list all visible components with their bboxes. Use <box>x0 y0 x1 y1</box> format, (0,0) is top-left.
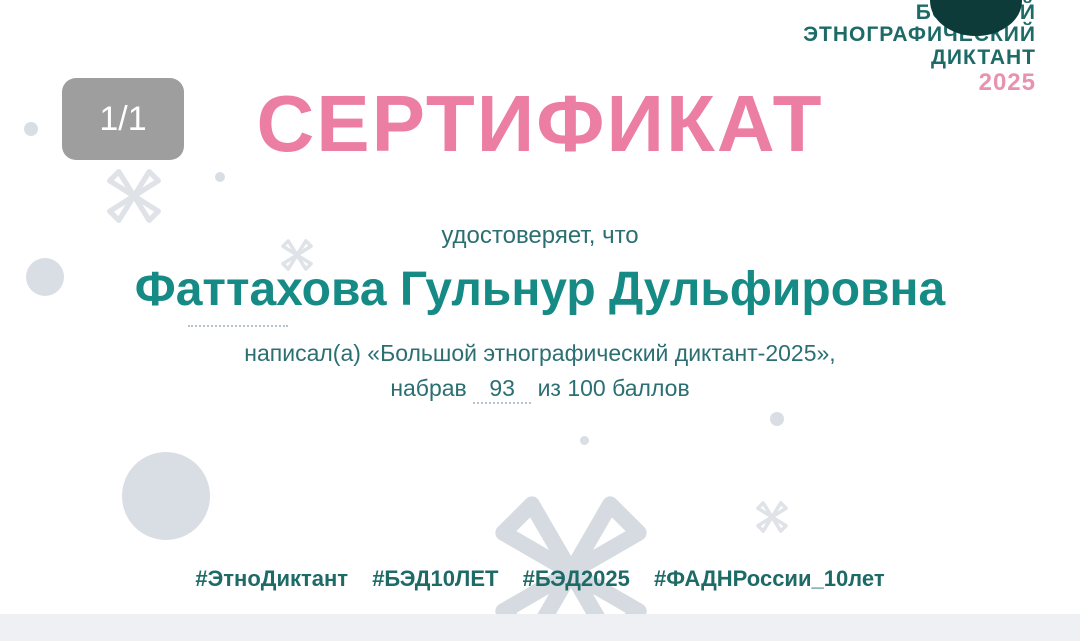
decor-flower-icon <box>750 495 794 539</box>
page-indicator: 1/1 <box>62 78 184 160</box>
page-indicator-label: 1/1 <box>99 100 146 139</box>
score-suffix: из 100 баллов <box>538 375 690 401</box>
certificate-body-line: написал(а) «Большой этнографический дикт… <box>0 340 1080 367</box>
recipient-name-underline <box>188 323 288 327</box>
score-line: набрав 93 из 100 баллов <box>0 375 1080 404</box>
score-prefix: набрав <box>390 375 466 401</box>
decor-circle <box>215 172 225 182</box>
hashtag-item: #БЭД2025 <box>523 566 630 591</box>
certifies-label: удостоверяет, что <box>0 222 1080 250</box>
logo-year: 2025 <box>803 71 1036 95</box>
decor-circle <box>122 452 210 540</box>
decor-circle <box>580 436 589 445</box>
decor-flower-large-icon <box>482 483 660 614</box>
score-value: 93 <box>473 375 531 404</box>
hashtag-list: #ЭтноДиктант #БЭД10ЛЕТ #БЭД2025 #ФАДНРос… <box>0 566 1080 592</box>
page-bottom-edge <box>0 614 1080 641</box>
hashtag-item: #БЭД10ЛЕТ <box>372 566 498 591</box>
hashtag-item: #ЭтноДиктант <box>195 566 348 591</box>
certificate-viewer: БОЛЬШОЙ ЭТНОГРАФИЧЕСКИЙ ДИКТАНТ 2025 СЕР… <box>0 0 1080 641</box>
recipient-name: Фаттахова Гульнур Дульфировна <box>0 262 1080 317</box>
hashtag-item: #ФАДНРоссии_10лет <box>654 566 885 591</box>
logo-line-diktant: ДИКТАНТ <box>803 47 1036 68</box>
decor-circle <box>770 412 784 426</box>
